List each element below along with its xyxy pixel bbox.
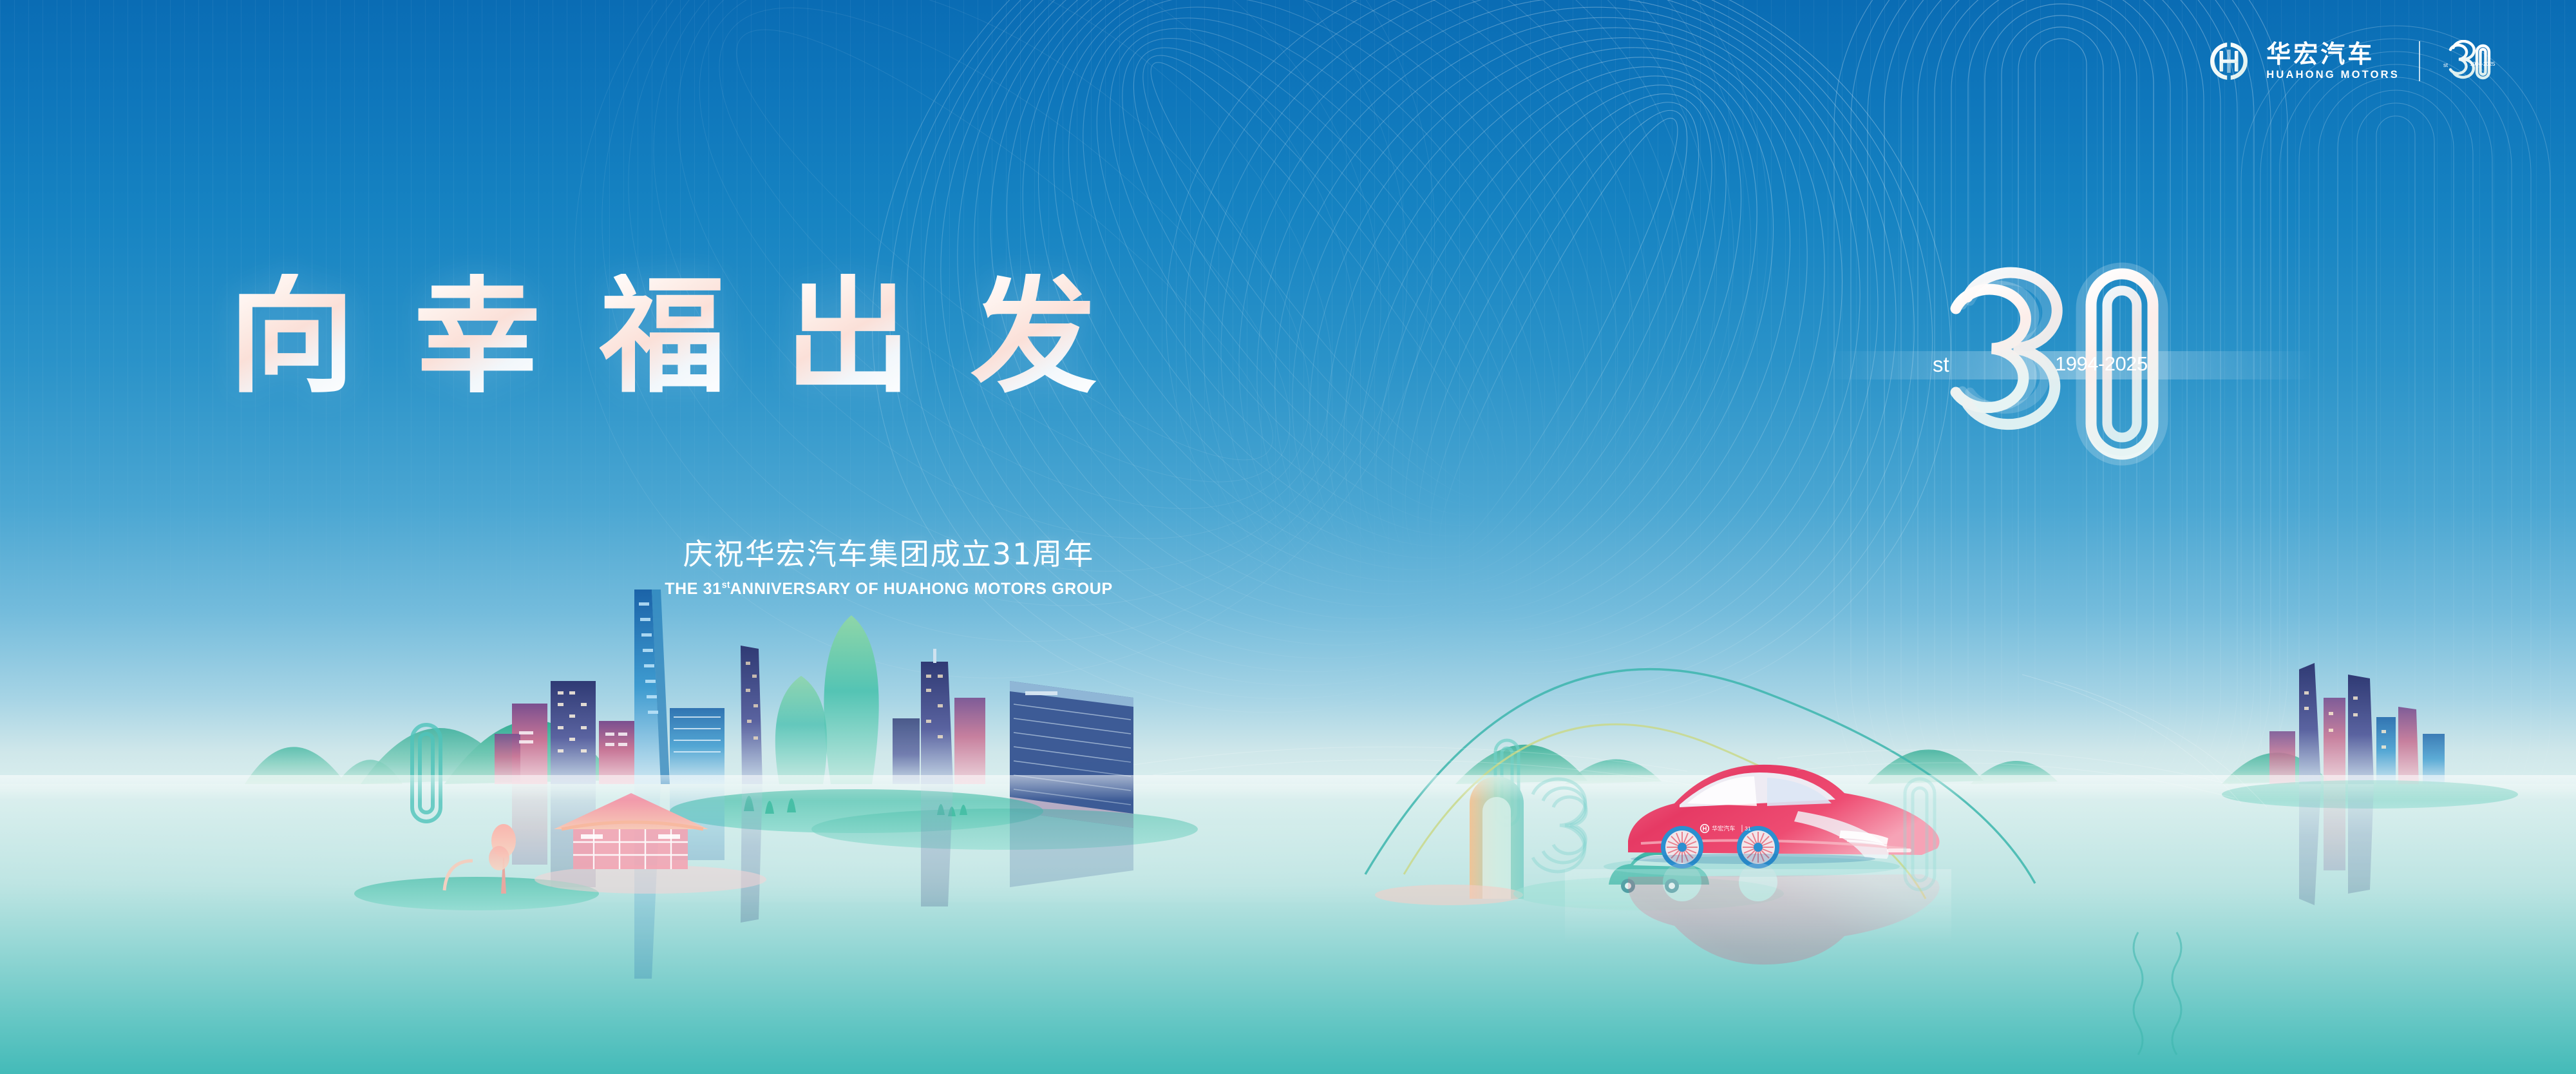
car-reflection bbox=[1628, 863, 1940, 964]
headline-char-2: 幸 bbox=[414, 274, 540, 400]
svg-text:31: 31 bbox=[1745, 825, 1751, 832]
arch-marker bbox=[412, 725, 440, 821]
badge-years: 1994-2025 bbox=[2470, 61, 2495, 67]
anniversary-badge-small: st 1994-2025 bbox=[2439, 40, 2499, 82]
small-green-car bbox=[1513, 850, 1784, 910]
office-block bbox=[1010, 681, 1133, 828]
city-cluster-right bbox=[2222, 663, 2518, 809]
subtitle-en-rest: ANNIVERSARY OF HUAHONG MOTORS GROUP bbox=[730, 580, 1113, 598]
rainbow-arch bbox=[1375, 776, 1524, 905]
headline: “ 向 幸 福 出 发 ” bbox=[229, 274, 1097, 400]
arch-marker bbox=[1495, 740, 1519, 825]
brand-divider bbox=[2419, 41, 2420, 81]
subtitle-en-ordinal: st bbox=[722, 580, 730, 590]
headline-char-1-text: 向 bbox=[229, 264, 355, 410]
headline-char-3: 福 bbox=[600, 274, 726, 400]
headline-char-1: “ 向 bbox=[229, 274, 355, 400]
subtitle-en-prefix: THE 31 bbox=[665, 580, 721, 598]
arc-trails bbox=[1365, 669, 2035, 899]
headline-char-4: 出 bbox=[785, 274, 911, 400]
brand-name-cn: 华宏汽车 bbox=[2266, 42, 2400, 66]
brand-name-en: HUAHONG MOTORS bbox=[2266, 70, 2400, 81]
anniversary-emblem-large: st 1994-2025 bbox=[1916, 254, 2212, 474]
wave-line-art-decoration bbox=[0, 0, 2576, 1074]
chinese-pavilion-island bbox=[354, 824, 599, 910]
subtitle-cn: 庆祝华宏汽车集团成立31周年 bbox=[599, 538, 1179, 571]
badge-ordinal: st bbox=[2443, 62, 2448, 68]
svg-text:华宏汽车: 华宏汽车 bbox=[1712, 825, 1735, 832]
ghost-3-motif bbox=[1533, 779, 1586, 872]
city-reflection bbox=[512, 757, 1133, 979]
red-concept-car: 华宏汽车 31 bbox=[1604, 765, 1940, 877]
headline-char-5-text: 发 bbox=[971, 264, 1097, 410]
emblem-ordinal: st bbox=[1933, 352, 1949, 376]
brand-lockup: 华宏汽车 HUAHONG MOTORS bbox=[2208, 40, 2499, 82]
huahong-h-circle-icon bbox=[2208, 41, 2249, 82]
emblem-years: 1994-2025 bbox=[2055, 352, 2148, 375]
city-scene: 华宏汽车 31 bbox=[0, 571, 2576, 1074]
chinese-pavilion bbox=[535, 793, 766, 894]
anniversary-key-visual: 华宏汽车 HUAHONG MOTORS bbox=[0, 0, 2576, 1074]
open-quote-mark: “ bbox=[184, 270, 228, 329]
brand-name-block: 华宏汽车 HUAHONG MOTORS bbox=[2266, 42, 2400, 81]
green-hills bbox=[245, 720, 2328, 784]
close-quote-mark: ” bbox=[1096, 270, 1141, 329]
subtitle-en: THE 31stANNIVERSARY OF HUAHONG MOTORS GR… bbox=[599, 580, 1179, 599]
city-cluster-left bbox=[495, 571, 1198, 850]
horizon-bloom bbox=[0, 825, 2576, 902]
headline-char-5: 发 ” bbox=[971, 274, 1097, 400]
